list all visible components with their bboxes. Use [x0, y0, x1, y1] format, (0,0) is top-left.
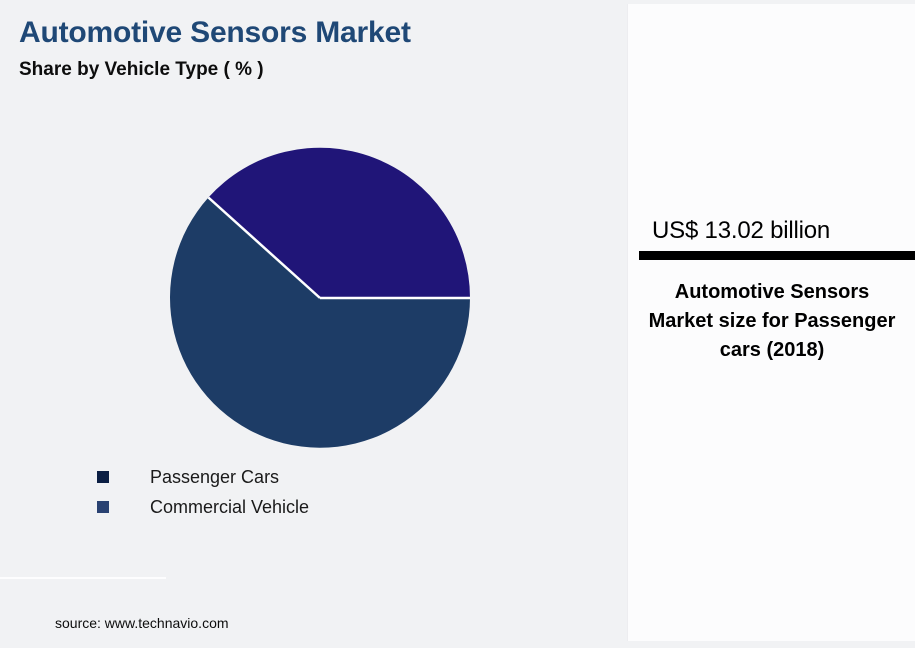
chart-subtitle: Share by Vehicle Type ( % )	[19, 59, 264, 81]
page-title: Automotive Sensors Market	[19, 16, 411, 50]
callout-panel: US$ 13.02 billion Automotive Sensors Mar…	[627, 4, 915, 641]
legend-item-label: Passenger Cars	[150, 468, 279, 486]
legend-swatch-icon	[97, 501, 109, 513]
legend-swatch-icon	[97, 471, 109, 483]
legend-item-passenger-cars[interactable]: Passenger Cars	[97, 462, 517, 492]
legend-item-label: Commercial Vehicle	[150, 498, 309, 516]
pie-chart	[165, 143, 475, 453]
callout-value: US$ 13.02 billion	[652, 217, 830, 245]
legend: Passenger Cars Commercial Vehicle	[97, 462, 517, 522]
source-note: source: www.technavio.com	[55, 615, 229, 631]
callout-description: Automotive Sensors Market size for Passe…	[644, 278, 900, 365]
infographic-root: Automotive Sensors Market Share by Vehic…	[0, 0, 915, 648]
callout-divider	[639, 251, 915, 260]
legend-item-commercial-vehicle[interactable]: Commercial Vehicle	[97, 492, 517, 522]
pie-chart-svg	[165, 143, 475, 453]
baseline-divider	[0, 577, 166, 579]
chart-region: Automotive Sensors Market Share by Vehic…	[0, 0, 627, 648]
